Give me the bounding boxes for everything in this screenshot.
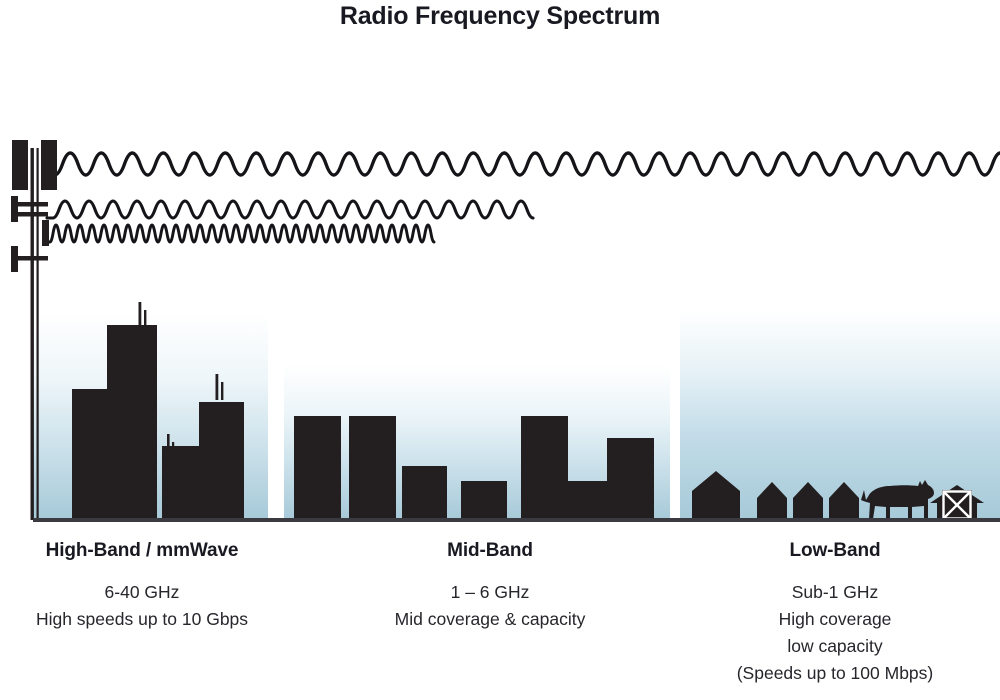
band-line: Sub-1 GHz — [670, 579, 1000, 606]
band-lines-high-band: 6-40 GHz High speeds up to 10 Gbps — [0, 579, 284, 633]
spectrum-illustration — [0, 118, 1000, 530]
band-name-low-band: Low-Band — [670, 540, 1000, 562]
tower-crossbar-upper — [17, 212, 48, 217]
band-line: 6-40 GHz — [0, 579, 284, 606]
tower-antenna-panel-left-low — [11, 246, 18, 272]
building-icon — [607, 438, 654, 520]
building-icon — [72, 389, 112, 520]
band-line: High coverage — [670, 606, 1000, 633]
band-captions: High-Band / mmWave 6-40 GHz High speeds … — [0, 540, 1000, 700]
building-icon — [199, 402, 244, 520]
tower-antenna-panel-left-top — [12, 140, 28, 190]
infographic-root: Radio Frequency Spectrum — [0, 0, 1000, 700]
band-caption-high-band: High-Band / mmWave 6-40 GHz High speeds … — [0, 540, 284, 633]
band-line: High speeds up to 10 Gbps — [0, 606, 284, 633]
high-frequency-wave — [47, 225, 434, 242]
band-line: 1 – 6 GHz — [330, 579, 650, 606]
tower-crossbar-top — [17, 202, 48, 207]
building-icon — [521, 416, 568, 520]
band-line: Mid coverage & capacity — [330, 606, 650, 633]
tower-crossbar-lower — [17, 256, 48, 261]
building-icon — [461, 481, 507, 520]
ground-line — [33, 518, 1000, 522]
radio-waves — [47, 153, 1000, 242]
building-icon — [349, 416, 396, 520]
tower-antenna-panel-right-top — [41, 140, 57, 190]
building-icon — [402, 466, 447, 520]
building-icon — [565, 481, 607, 520]
building-icon — [294, 416, 341, 520]
band-line: low capacity — [670, 633, 1000, 660]
tower-antenna-panel-left-mid — [11, 196, 18, 222]
building-spire-tall — [216, 374, 219, 400]
band-lines-mid-band: 1 – 6 GHz Mid coverage & capacity — [330, 579, 650, 633]
building-icon — [107, 325, 157, 520]
band-lines-low-band: Sub-1 GHz High coverage low capacity (Sp… — [670, 579, 1000, 687]
band-line: (Speeds up to 100 Mbps) — [670, 660, 1000, 687]
mid-frequency-wave — [47, 201, 533, 218]
page-title: Radio Frequency Spectrum — [0, 2, 1000, 31]
band-name-mid-band: Mid-Band — [330, 540, 650, 562]
building-spire-short — [221, 382, 223, 400]
low-frequency-wave — [47, 153, 1000, 175]
tower-antenna-panel-right-mid — [42, 220, 49, 246]
band-caption-low-band: Low-Band Sub-1 GHz High coverage low cap… — [670, 540, 1000, 687]
band-caption-mid-band: Mid-Band 1 – 6 GHz Mid coverage & capaci… — [330, 540, 650, 633]
band-name-high-band: High-Band / mmWave — [0, 540, 284, 562]
building-spire-tall — [139, 302, 142, 328]
spectrum-scene — [0, 118, 1000, 530]
